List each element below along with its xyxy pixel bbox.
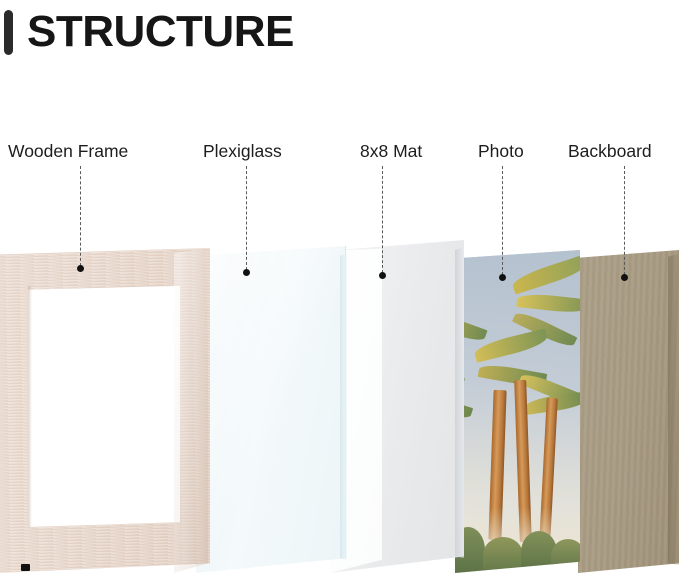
leader-line-backboard: [624, 166, 626, 275]
label-wooden-frame: Wooden Frame: [8, 143, 128, 161]
label-backboard: Backboard: [568, 143, 652, 161]
leader-dot-mat: [379, 272, 386, 279]
title-text: STRUCTURE: [27, 10, 294, 54]
photo-shrub: [483, 537, 523, 573]
leader-dot-wooden-frame: [77, 265, 84, 272]
leader-line-wooden-frame: [80, 166, 82, 266]
backboard-right-edge: [668, 250, 679, 573]
leader-line-plexiglass: [246, 166, 248, 270]
structure-infographic: STRUCTURE Wooden Frame Plexiglass 8x8 Ma…: [0, 0, 679, 573]
label-mat: 8x8 Mat: [360, 143, 422, 161]
frame-hardware-tab: [21, 564, 30, 571]
layer-backboard: [578, 250, 679, 573]
plexiglass-right-edge: [340, 246, 347, 573]
frame-right-bevel: [174, 248, 208, 573]
page-title: STRUCTURE: [0, 6, 294, 58]
leader-line-mat: [382, 166, 384, 273]
title-accent-bar: [4, 10, 13, 55]
label-plexiglass: Plexiglass: [203, 143, 282, 161]
frame-opening: [28, 286, 180, 527]
frame-inner-shadow: [28, 286, 32, 527]
plexiglass-sheen: [196, 246, 346, 573]
leader-dot-photo: [499, 274, 506, 281]
leader-dot-backboard: [621, 274, 628, 281]
mat-right-edge: [455, 240, 464, 573]
layer-photo: [455, 250, 580, 573]
leader-line-photo: [502, 166, 504, 275]
leader-dot-plexiglass: [243, 269, 250, 276]
layer-wooden-frame: [0, 248, 210, 573]
photo-shrub: [551, 539, 580, 573]
label-photo: Photo: [478, 143, 524, 161]
